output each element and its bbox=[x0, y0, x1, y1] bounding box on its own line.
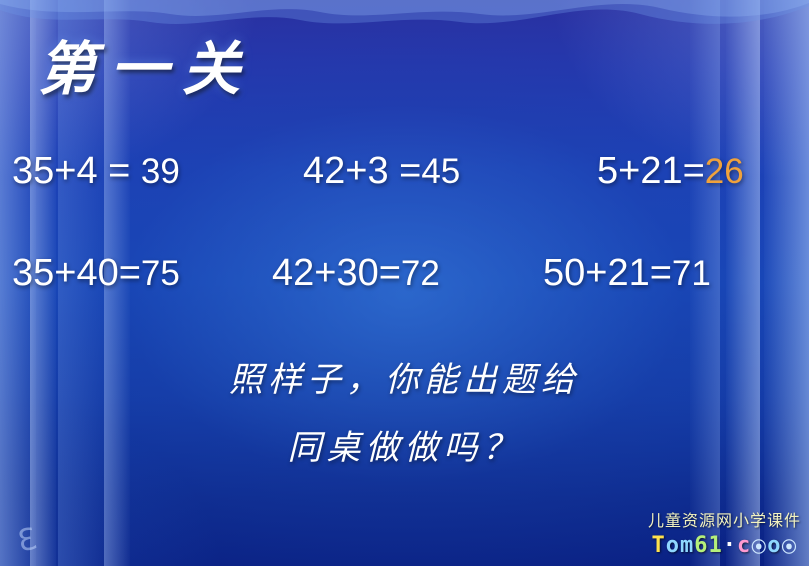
decorative-swirl: ℇ bbox=[15, 521, 40, 559]
equation-answer: 72 bbox=[401, 254, 440, 293]
equation-answer: 26 bbox=[705, 152, 744, 191]
equation-answer: 39 bbox=[141, 152, 180, 191]
watermark-url-t: T bbox=[651, 533, 665, 558]
watermark-url-dot: · bbox=[723, 533, 737, 558]
equation-item: 42+3 =45 bbox=[303, 150, 460, 193]
equation-item: 50+21=71 bbox=[543, 252, 711, 295]
watermark: 儿童资源网小学课件 Tom61·c⦿o⦿ bbox=[648, 507, 801, 558]
paw-icon: ⦿ bbox=[781, 538, 797, 556]
prompt-line-2: 同桌做做吗？ bbox=[0, 420, 809, 469]
equation-answer: 71 bbox=[672, 254, 711, 293]
paw-icon: ⦿ bbox=[751, 538, 767, 556]
equation-answer: 45 bbox=[421, 152, 460, 191]
equation-item: 42+30=72 bbox=[272, 252, 440, 295]
curtain-band-7 bbox=[764, 0, 809, 566]
slide-canvas: 第一关 35+4 = 39 42+3 =45 5+21=26 35+40=75 … bbox=[0, 0, 809, 566]
watermark-url-om: om bbox=[666, 533, 695, 558]
curtain-band-6 bbox=[726, 0, 760, 566]
equation-expression: 35+40= bbox=[12, 252, 141, 294]
watermark-url: Tom61·c⦿o⦿ bbox=[648, 533, 801, 558]
equation-item: 35+4 = 39 bbox=[12, 150, 180, 193]
prompt-line-1: 照样子，你能出题给 bbox=[0, 352, 809, 401]
page-title: 第一关 bbox=[38, 22, 254, 106]
watermark-chinese: 儿童资源网小学课件 bbox=[648, 507, 801, 531]
equation-expression: 35+4 = bbox=[12, 150, 141, 192]
watermark-url-o: o bbox=[767, 533, 781, 558]
equation-answer: 75 bbox=[141, 254, 180, 293]
equation-item: 35+40=75 bbox=[12, 252, 180, 295]
equation-expression: 5+21= bbox=[597, 150, 705, 192]
equation-expression: 50+21= bbox=[543, 252, 672, 294]
equation-item: 5+21=26 bbox=[597, 150, 744, 193]
equation-expression: 42+30= bbox=[272, 252, 401, 294]
watermark-url-c: c bbox=[737, 533, 751, 558]
watermark-url-61: 61 bbox=[694, 533, 723, 558]
equation-expression: 42+3 = bbox=[303, 150, 421, 192]
